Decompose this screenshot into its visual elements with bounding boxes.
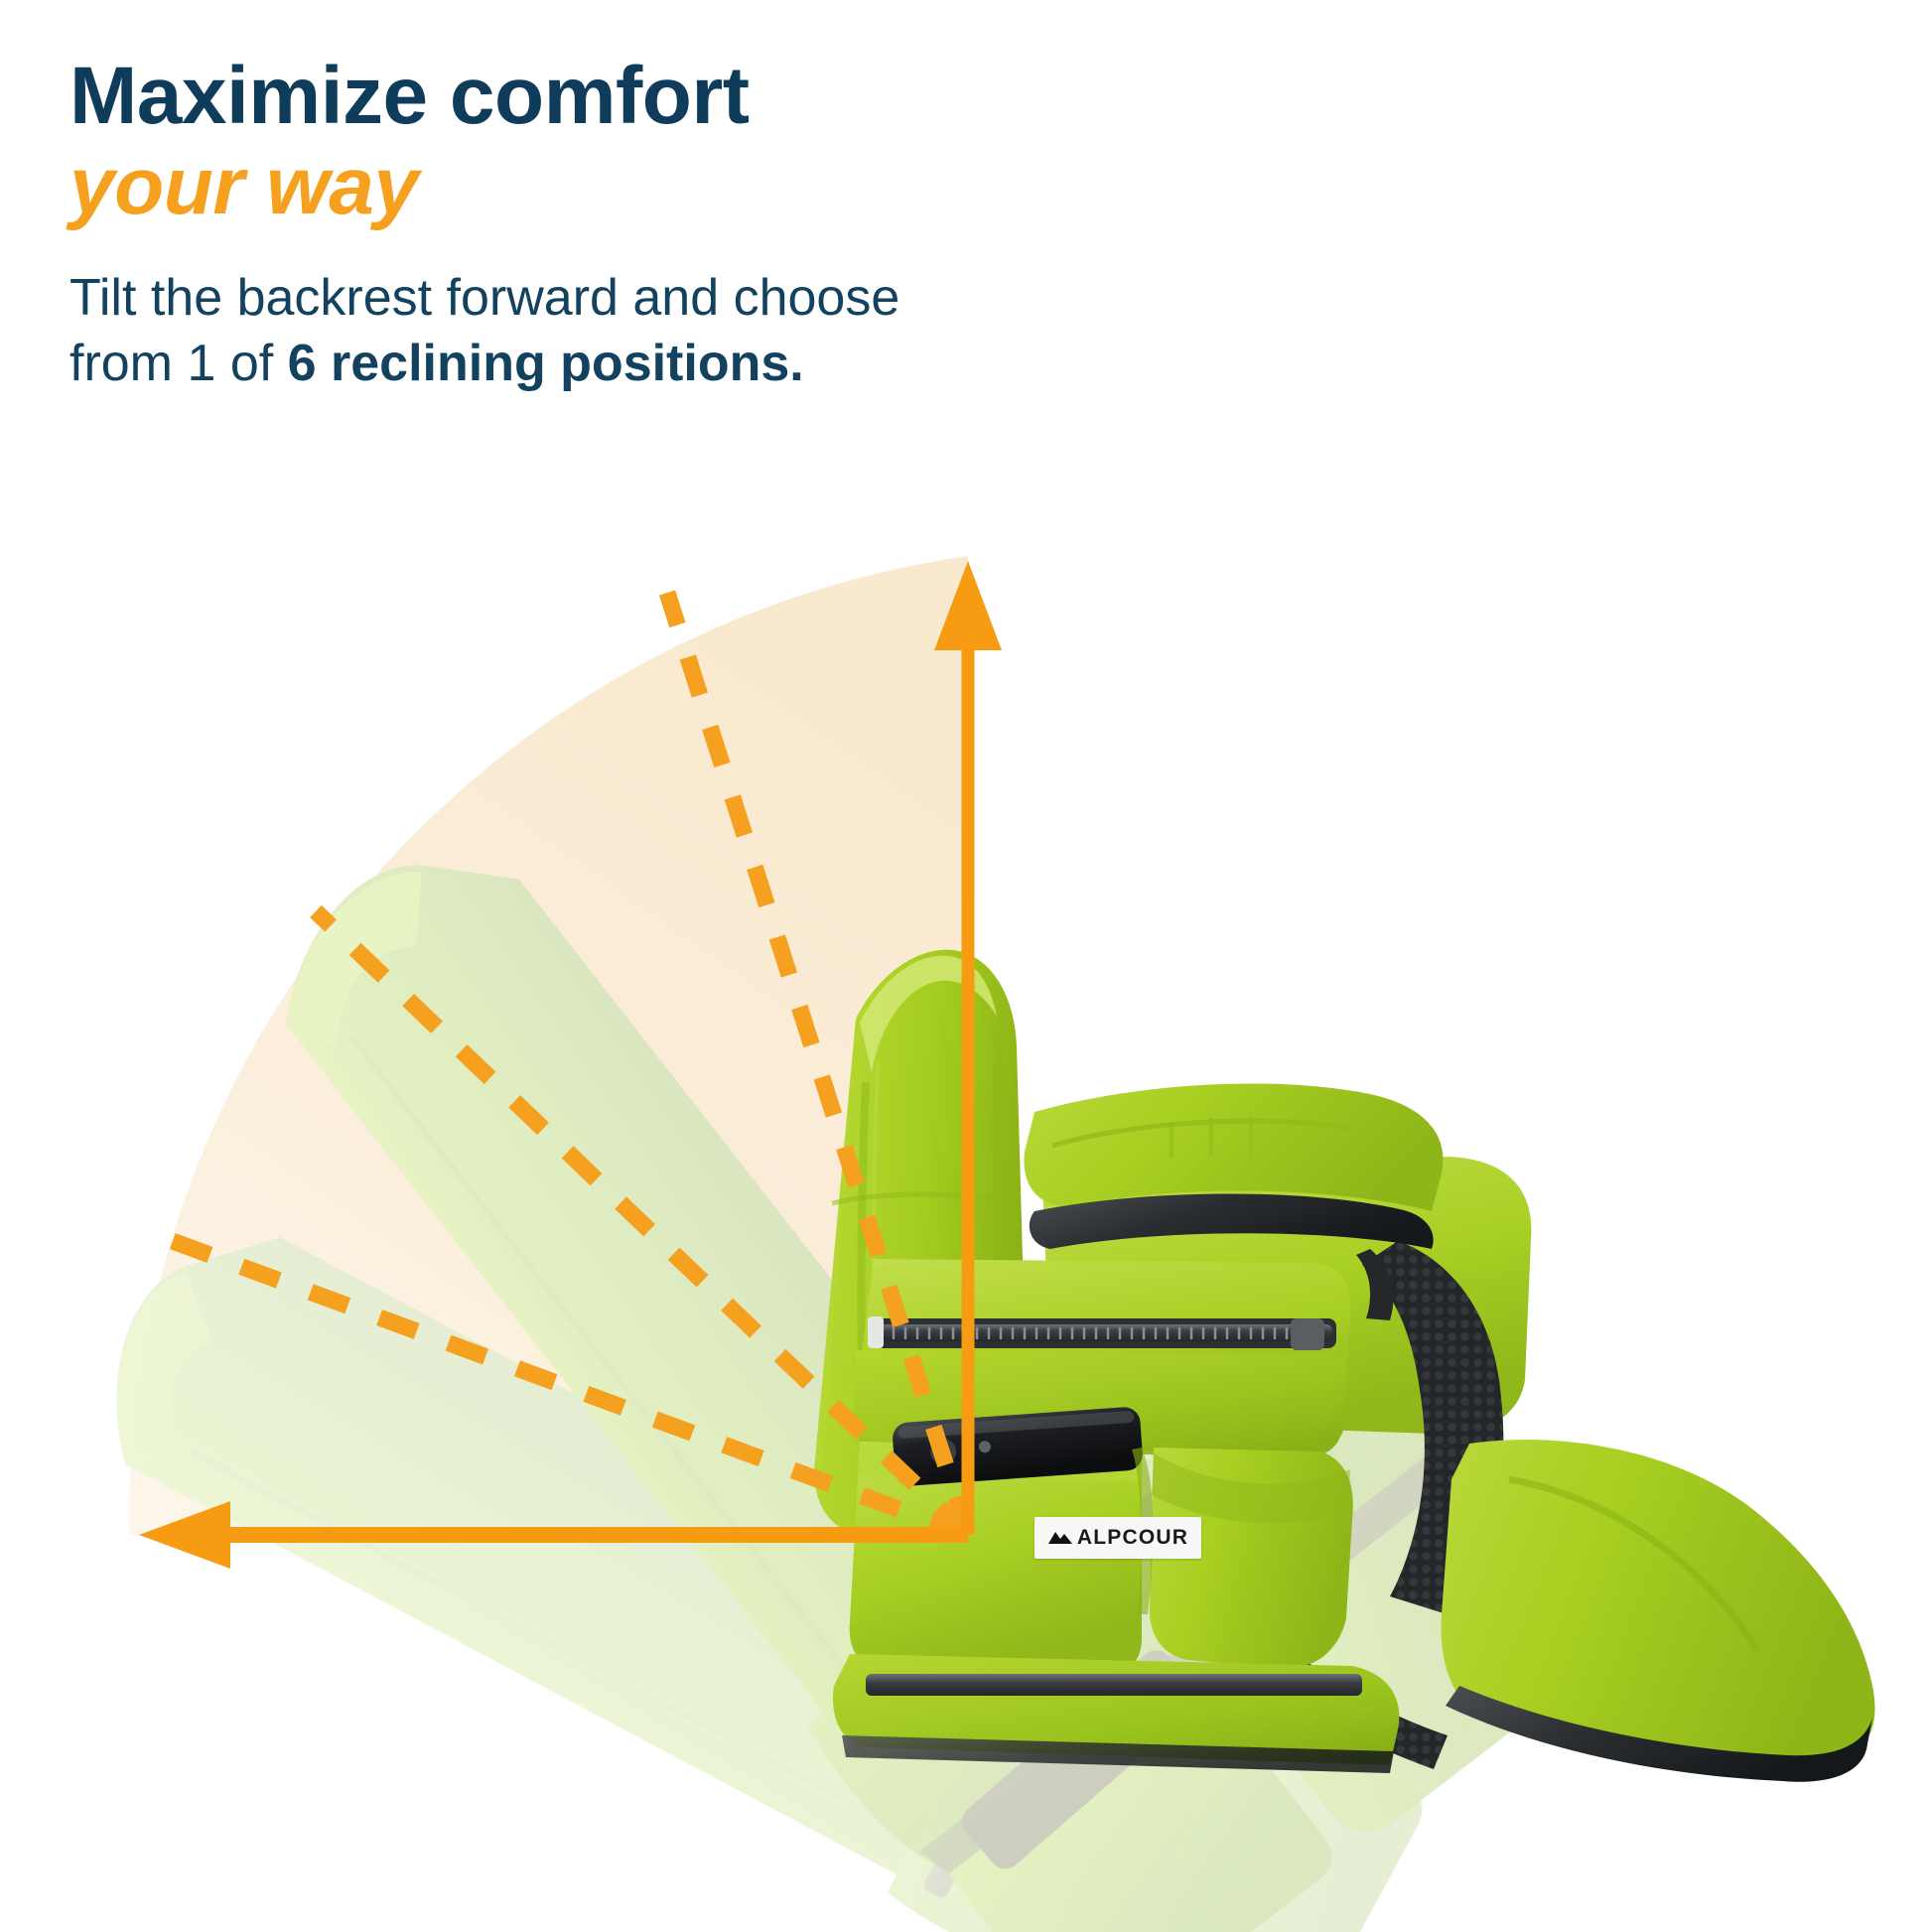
headline-block: Maximize comfort your way Tilt the backr… <box>69 55 1162 397</box>
product-photo-stage: ALPCOUR <box>0 427 1932 1932</box>
brand-tag: ALPCOUR <box>1035 1517 1201 1559</box>
mountain-icon <box>1047 1529 1073 1547</box>
base-zipper <box>866 1674 1362 1696</box>
body-copy-line2-prefix: from 1 of <box>69 335 288 392</box>
brand-name: ALPCOUR <box>1077 1526 1188 1550</box>
headline-accent: your way <box>69 144 1162 229</box>
product-feature-graphic: ALPCOUR Maximize comfort your way Tilt t… <box>0 0 1932 1932</box>
headline-primary: Maximize comfort <box>69 55 1162 138</box>
body-copy-line1: Tilt the backrest forward and choose <box>69 269 899 327</box>
body-copy-line2-bold: 6 reclining positions. <box>288 335 804 392</box>
zipper-pocket <box>868 1316 1336 1350</box>
chair-illustration <box>0 427 1932 1932</box>
body-copy: Tilt the backrest forward and choose fro… <box>69 265 963 397</box>
